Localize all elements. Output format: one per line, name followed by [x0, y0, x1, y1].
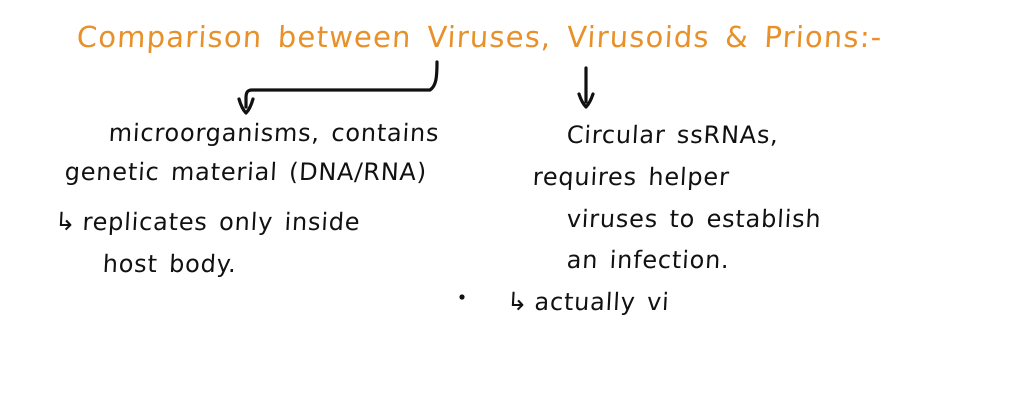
- right-column-line-2: requires helper: [532, 163, 730, 191]
- connector-arrows-layer: [0, 0, 1024, 410]
- sub-arrow-icon: ↳: [506, 289, 529, 314]
- left-column-line-4: host body.: [102, 250, 237, 278]
- right-column-line-3: viruses to establish: [566, 205, 822, 233]
- right-column-line-5: ↳actually vi: [506, 288, 670, 316]
- whiteboard-canvas: Comparison between Viruses, Virusoids & …: [0, 0, 1024, 410]
- right-column-line-5-text: actually vi: [534, 288, 671, 316]
- down-arrow-icon: [579, 68, 593, 107]
- page-title: Comparison between Viruses, Virusoids & …: [76, 20, 883, 54]
- right-column-line-1: Circular ssRNAs,: [566, 121, 779, 149]
- ink-dot-icon: [459, 294, 464, 299]
- left-column-line-3-text: replicates only inside: [82, 208, 361, 236]
- left-column-line-1: microorganisms, contains: [108, 119, 440, 147]
- left-column-line-2: genetic material (DNA/RNA): [64, 158, 428, 186]
- right-column-line-4: an infection.: [566, 246, 730, 274]
- left-column-line-3: ↳replicates only inside: [54, 208, 361, 236]
- bracket-down-arrow-icon: [239, 62, 437, 113]
- sub-arrow-icon: ↳: [54, 209, 77, 234]
